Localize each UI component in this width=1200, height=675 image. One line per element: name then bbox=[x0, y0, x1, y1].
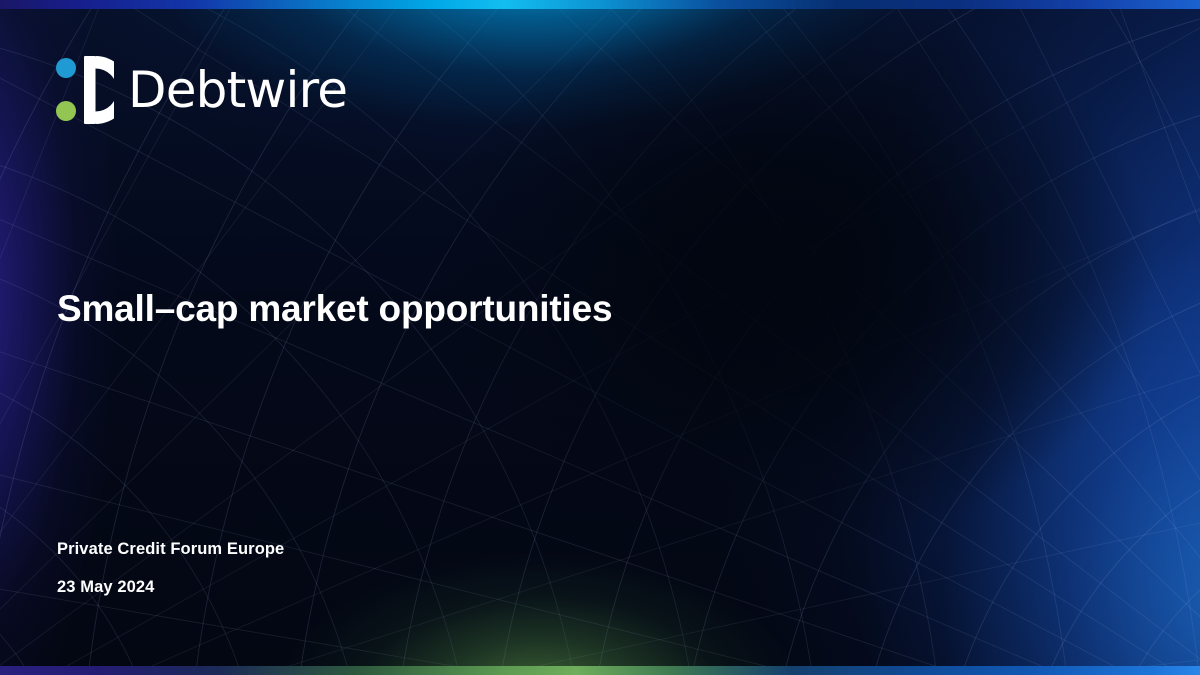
debtwire-d-mark-icon bbox=[56, 54, 114, 126]
event-date: 23 May 2024 bbox=[57, 579, 284, 596]
top-gradient-strip bbox=[0, 0, 1200, 9]
footer-block: Private Credit Forum Europe 23 May 2024 bbox=[57, 541, 284, 595]
page-title: Small–cap market opportunities bbox=[57, 289, 612, 330]
title-slide: Debtwire Small–cap market opportunities … bbox=[0, 0, 1200, 675]
debtwire-logo: Debtwire bbox=[56, 54, 347, 126]
event-name: Private Credit Forum Europe bbox=[57, 541, 284, 558]
bottom-gradient-strip bbox=[0, 666, 1200, 675]
debtwire-wordmark: Debtwire bbox=[128, 65, 347, 115]
